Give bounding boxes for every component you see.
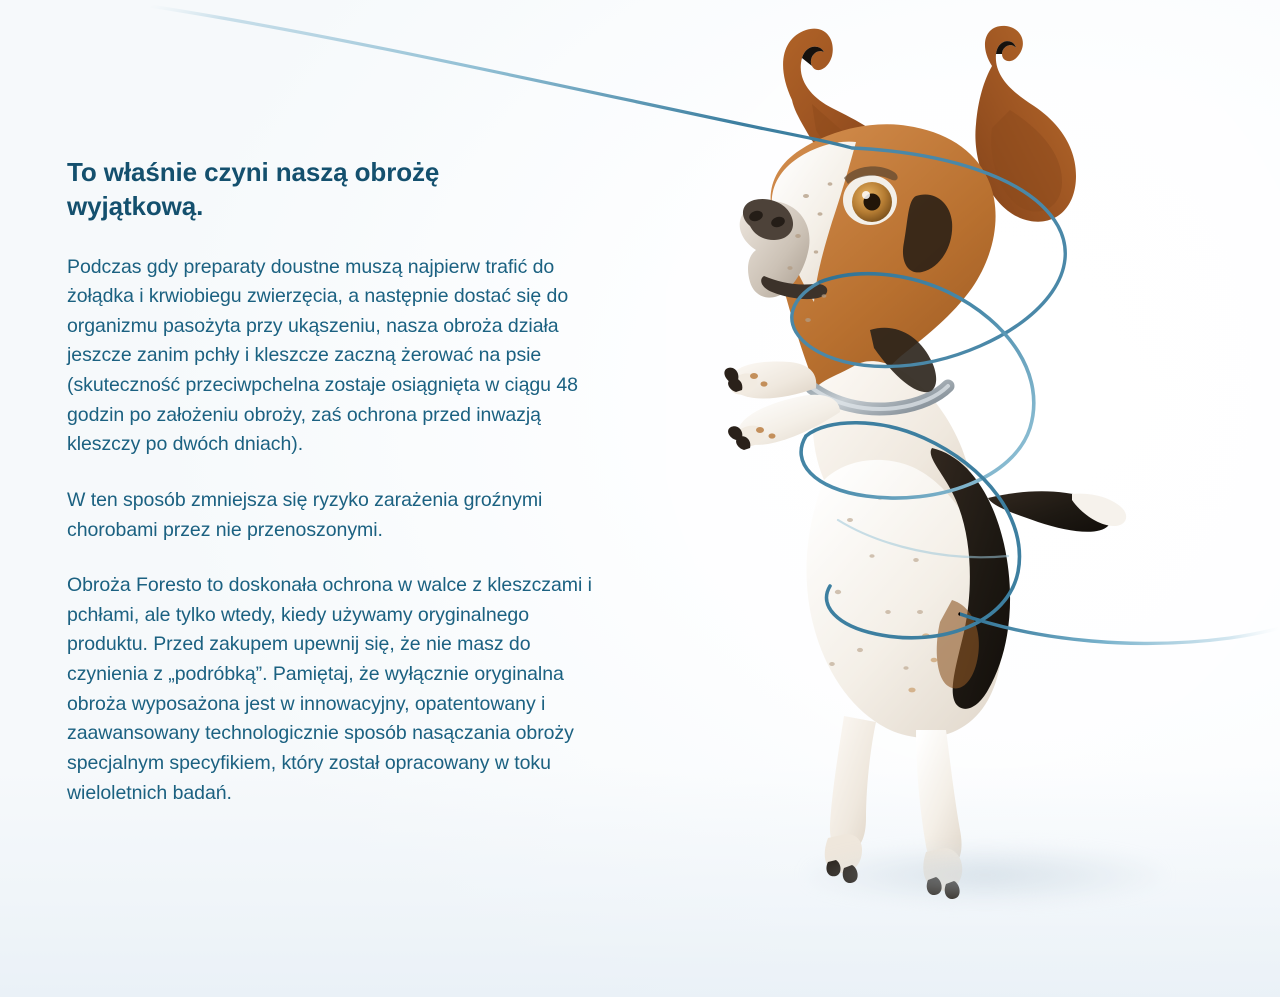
dog-mouth [761,276,827,299]
text-column: To właśnie czyni naszą obrożę wyjątkową.… [67,156,612,808]
dog-left-ear [783,29,901,187]
promo-page: To właśnie czyni naszą obrożę wyjątkową.… [0,0,1280,997]
ribbon-right-exit [960,614,1280,643]
dog-front-paws [724,368,775,450]
dog-front-leg-left [729,362,816,399]
dog-body-ticking [829,496,923,670]
dog-hind-paws [825,834,962,899]
dog-collar [812,386,948,409]
dog-saddle [931,448,1010,709]
backdrop-glow [666,80,1280,840]
ribbon-top-left [150,6,852,148]
ribbon-neck-loop [792,148,1065,367]
floor-shadow [805,845,1165,905]
dog-hind-leg-right [916,730,962,869]
dog-iris [852,182,892,222]
dog-blaze [772,142,856,302]
paragraph-3: Obroża Foresto to doskonała ochrona w wa… [67,571,612,808]
ribbon-chest-loop [801,274,1034,498]
dog-tail-tip [1072,494,1126,526]
dog-muzzle [740,201,810,298]
dog-pupil [864,194,881,211]
dog-tail [988,491,1111,532]
dog-eye-patch [903,194,952,272]
dog-neck [813,361,972,555]
dog-hind-leg-left [830,716,876,852]
dog-eye-white [843,175,897,225]
dog-ticking [787,182,832,322]
dog-shoulder-patch [870,328,936,392]
paragraph-2: W ten sposób zmniejsza się ryzyko zaraże… [67,486,612,545]
dog-nose [743,199,793,240]
dog-head [771,124,996,402]
ribbon-belly-loop [806,423,1019,638]
page-title: To właśnie czyni naszą obrożę wyjątkową. [67,156,537,224]
paragraph-1: Podczas gdy preparaty doustne muszą najp… [67,253,612,460]
dog-front-leg-right [738,395,840,445]
ribbon-secondary-strand [838,520,1008,557]
dog-torso [806,460,1002,738]
body-copy: Podczas gdy preparaty doustne muszą najp… [67,253,612,809]
dog-right-ear [975,26,1076,222]
dog-photo [720,0,1280,997]
